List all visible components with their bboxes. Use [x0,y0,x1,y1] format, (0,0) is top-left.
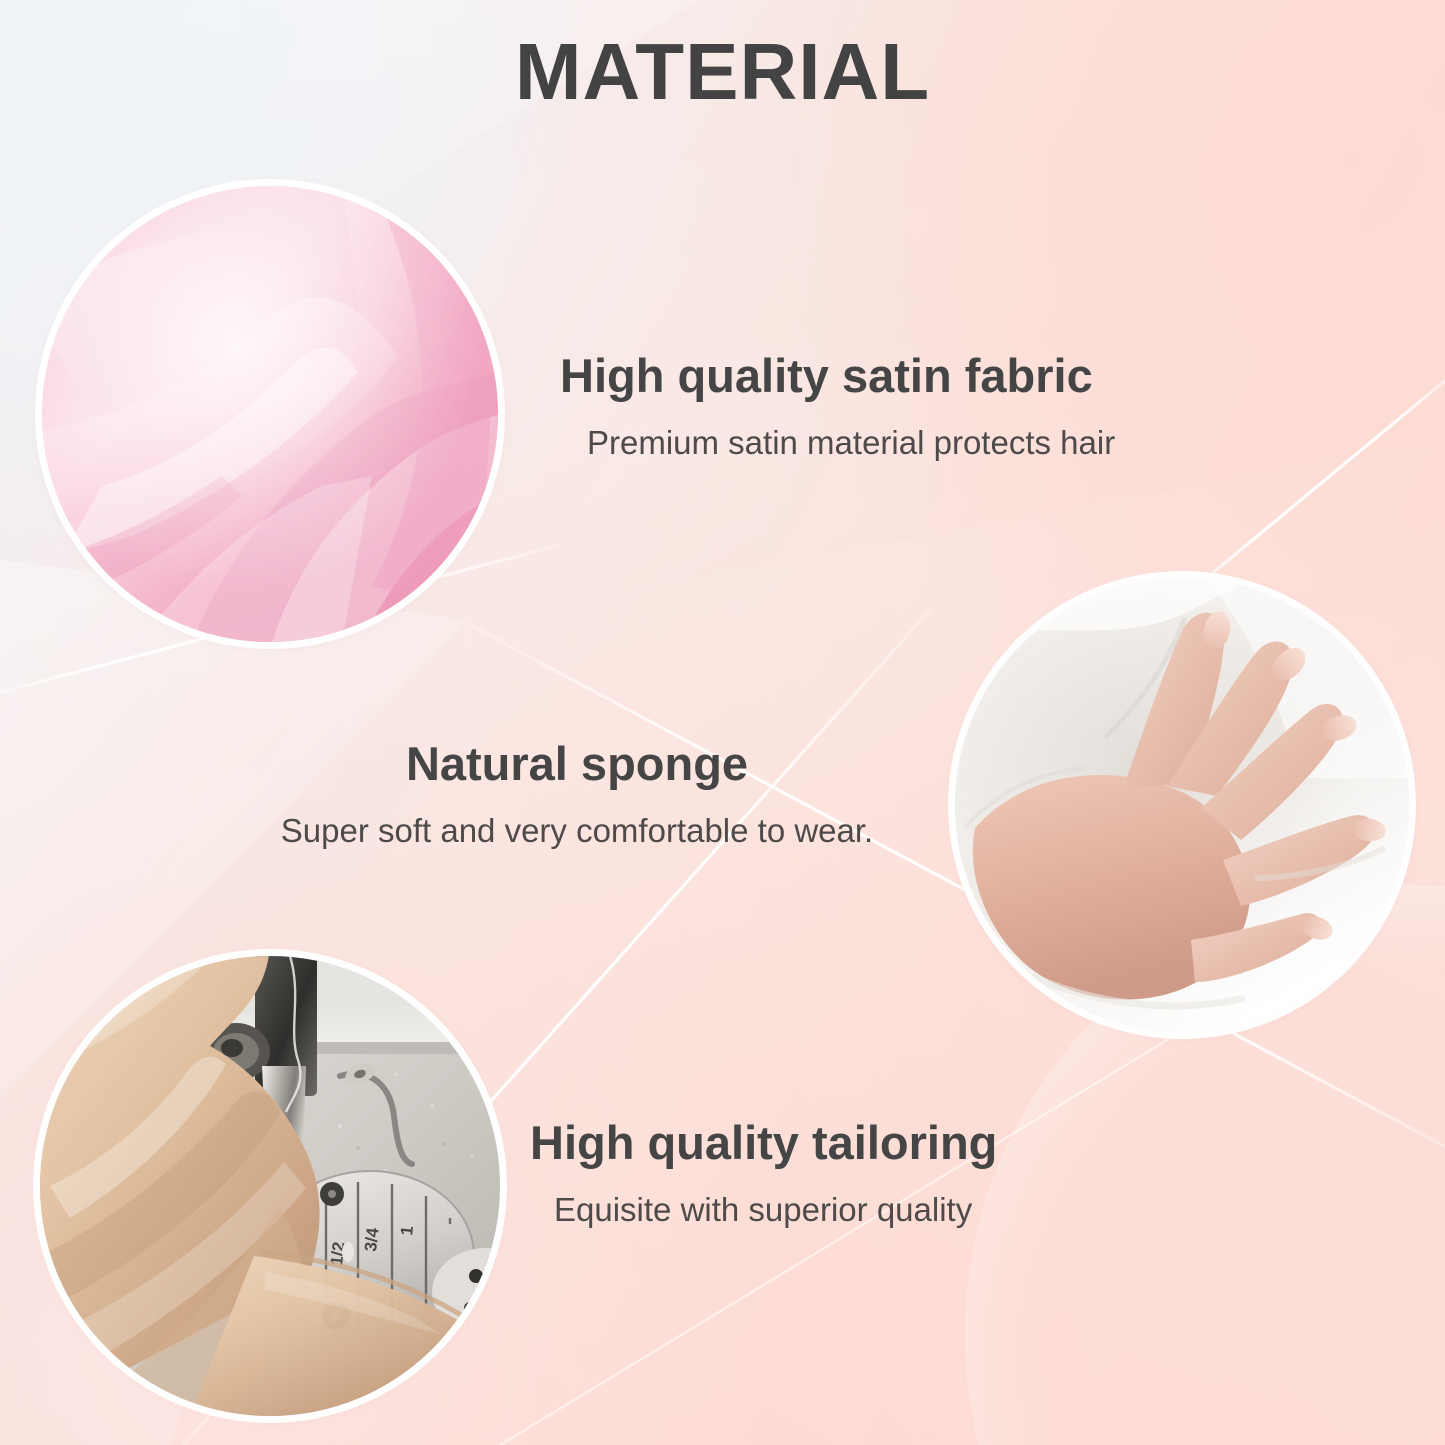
svg-text:3/4: 3/4 [361,1226,382,1252]
svg-text:1: 1 [397,1225,417,1236]
feature-image-sponge [955,578,1409,1032]
feature-image-satin [42,186,498,642]
feature-text-tailoring: High quality tailoring Equisite with sup… [530,1117,997,1229]
feature-subtext-sponge: Super soft and very comfortable to wear. [232,811,922,851]
page-title: MATERIAL [0,26,1445,118]
feature-heading-tailoring: High quality tailoring [530,1117,997,1170]
feature-subtext-satin: Premium satin material protects hair [587,423,1115,463]
feature-image-sewing: 1/4 1/2 3/4 1 [40,956,500,1416]
material-infographic: MATERIAL [0,0,1445,1445]
feature-text-satin: High quality satin fabric Premium satin … [560,350,1115,462]
feature-text-sponge: Natural sponge Super soft and very comfo… [232,738,922,850]
feature-heading-sponge: Natural sponge [232,738,922,791]
feature-subtext-tailoring: Equisite with superior quality [554,1190,997,1230]
feature-heading-satin: High quality satin fabric [560,350,1115,403]
